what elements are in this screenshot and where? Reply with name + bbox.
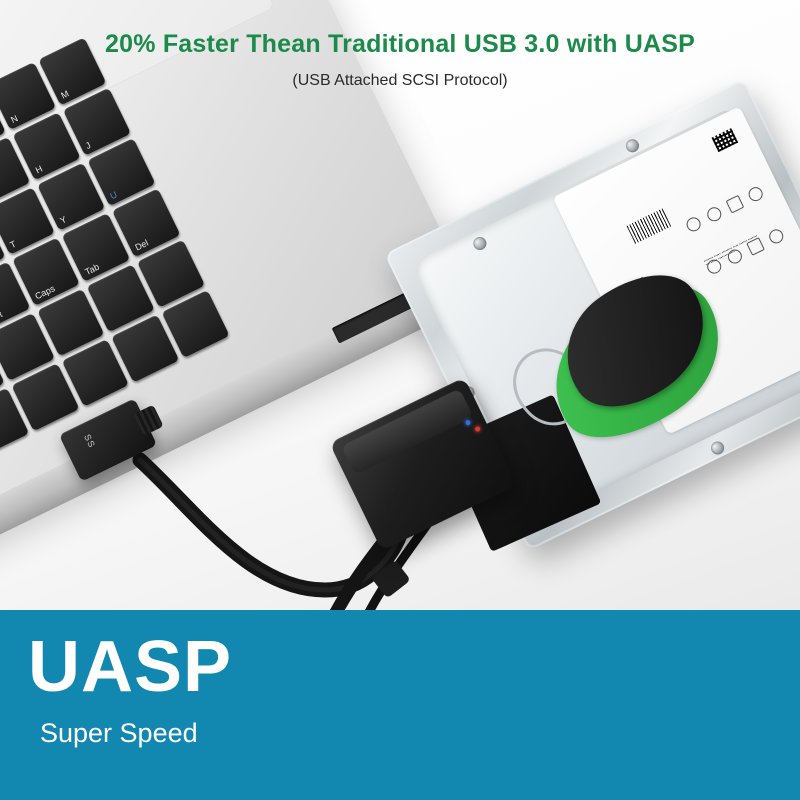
uasp-banner: UASP Super Speed Read Speeds Write Speed… xyxy=(0,610,800,800)
uasp-wordmark: UASP xyxy=(28,634,232,700)
page-subheadline: (USB Attached SCSI Protocol) xyxy=(0,72,800,90)
uasp-tagline: Super Speed xyxy=(40,718,198,749)
page-headline: 20% Faster Thean Traditional USB 3.0 wit… xyxy=(0,30,800,59)
qr-code-icon xyxy=(712,128,739,152)
product-marketing-image: BVCXZNMASDFGHJWQERTYUFnCtrlAltShiftCapsT… xyxy=(0,0,800,800)
barcode-icon xyxy=(627,209,672,245)
product-photo: BVCXZNMASDFGHJWQERTYUFnCtrlAltShiftCapsT… xyxy=(0,0,800,610)
certification-marks xyxy=(685,183,800,302)
